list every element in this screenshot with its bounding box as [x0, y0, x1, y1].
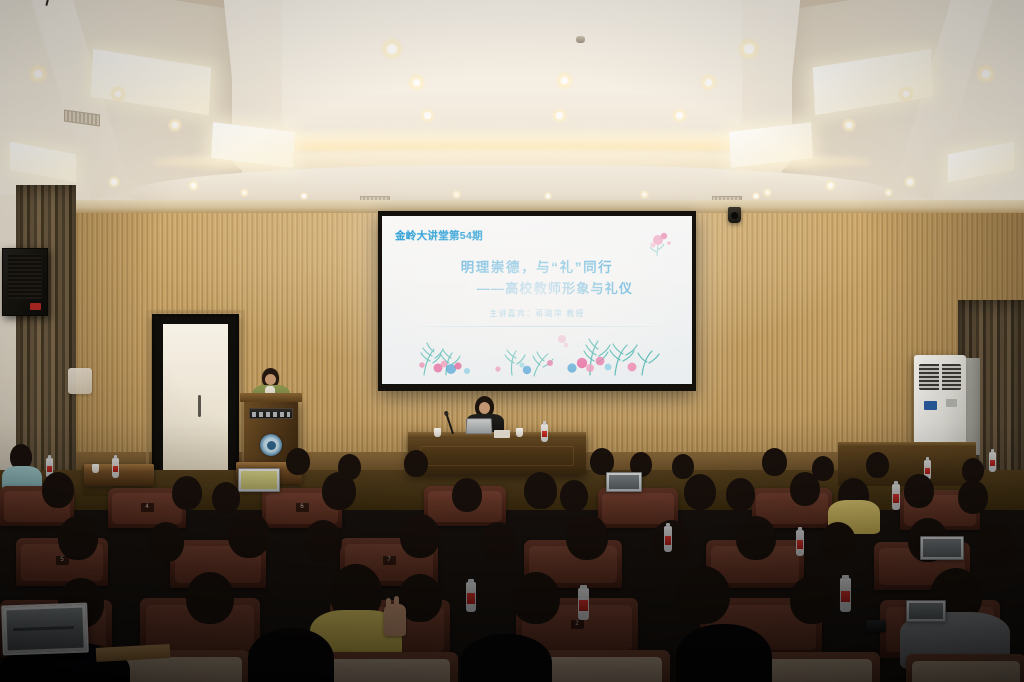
pa-speaker-left — [2, 248, 48, 316]
ceiling-downlight — [898, 86, 914, 102]
audience-head — [480, 522, 516, 562]
presenter-face — [265, 374, 276, 385]
projection-screen: 金岭大讲堂第54期 明理崇德，与“礼”同行 ——高校教师形象与礼仪 主讲嘉宾：蒋… — [378, 211, 696, 391]
ceiling-downlight — [420, 108, 435, 123]
audience-head — [148, 522, 184, 562]
seat-number: 6 — [296, 503, 309, 512]
name-card — [494, 430, 510, 438]
ceiling-downlight — [108, 176, 120, 188]
ceiling-downlight — [300, 192, 308, 200]
host-laptop[interactable] — [466, 418, 493, 434]
air-conditioner[interactable] — [914, 355, 966, 455]
laptop-screen — [923, 539, 961, 557]
slide-title-line2: ——高校教师形象与礼仪 — [382, 278, 692, 297]
ceiling-downlight — [556, 72, 573, 89]
ceiling — [0, 0, 1024, 215]
ceiling-downlight — [544, 192, 552, 200]
audience-head — [560, 480, 588, 512]
water-bottle — [892, 484, 900, 510]
audience-laptop[interactable] — [238, 468, 280, 492]
audience-head — [322, 472, 356, 510]
wall-notice-sign — [68, 368, 92, 394]
audience-head — [42, 472, 74, 508]
seat-pad — [912, 661, 1020, 682]
water-bottle — [466, 582, 476, 612]
seat-number: 5 — [56, 556, 69, 565]
audience-head — [676, 566, 730, 624]
ceiling-downlight — [825, 180, 836, 191]
seat[interactable] — [906, 654, 1024, 682]
entry-door[interactable] — [152, 314, 239, 484]
audience-head — [684, 474, 716, 510]
ceiling-downlight — [976, 64, 996, 84]
water-bottle — [112, 458, 119, 478]
ceiling-downlight — [672, 108, 687, 123]
ceiling-downlight — [28, 64, 48, 84]
audience-laptop[interactable] — [606, 472, 642, 492]
audience-head — [904, 474, 934, 508]
laptop-screen — [909, 603, 943, 619]
seat-number: 7 — [383, 556, 396, 565]
finger — [394, 596, 399, 614]
audience-head — [790, 576, 834, 624]
ceiling-downlight — [168, 118, 182, 132]
slide-kicker: 金岭大讲堂第54期 — [395, 228, 483, 243]
ceiling-downlight — [381, 38, 403, 60]
water-bottle — [578, 588, 589, 620]
audience-head — [866, 452, 889, 478]
lecture-hall-scene: 金岭大讲堂第54期 明理崇德，与“礼”同行 ——高校教师形象与礼仪 主讲嘉宾：蒋… — [0, 0, 1024, 682]
seat-number: 2 — [571, 620, 584, 629]
seat-number: 4 — [141, 503, 154, 512]
water-bottle — [796, 530, 804, 556]
audience-head — [212, 482, 240, 514]
foreground-silhouette — [676, 624, 772, 682]
audience-head — [958, 480, 988, 514]
audience-head — [524, 472, 557, 509]
ceiling-downlight — [884, 188, 893, 197]
audience-head — [976, 524, 1016, 568]
audience-head — [172, 476, 202, 510]
ceiling-downlight — [552, 108, 567, 123]
audience-head — [228, 512, 270, 558]
slide-speaker-line: 主讲嘉宾：蒋璐萍 教授 — [382, 308, 692, 319]
audience-head — [672, 454, 694, 479]
audience-head — [404, 450, 428, 477]
audience-head — [726, 478, 755, 511]
floral-border-icon — [394, 323, 684, 379]
water-bottle — [664, 526, 672, 552]
ceiling-downlight — [640, 190, 649, 199]
door-handle[interactable] — [198, 395, 201, 417]
ceiling-downlight — [752, 192, 760, 200]
audience-head — [304, 520, 342, 562]
audience-head — [286, 448, 310, 475]
head-table — [408, 432, 586, 474]
audience-head — [590, 448, 614, 475]
audience-head — [452, 478, 482, 512]
ceiling-downlight — [904, 176, 916, 188]
camera-lens-icon — [731, 212, 738, 219]
surveillance-camera — [728, 207, 741, 223]
ac-brand-badge — [924, 401, 937, 410]
laptop-screen — [241, 471, 277, 489]
laptop-screen — [609, 475, 639, 489]
paper-cup — [516, 428, 523, 437]
curtain-left — [16, 185, 76, 485]
ceiling-downlight — [842, 118, 856, 132]
water-bottle — [840, 578, 851, 612]
ceiling-downlight — [110, 86, 126, 102]
ceiling-downlight — [408, 74, 425, 91]
ac-unit-side — [964, 358, 980, 455]
foreground-silhouette — [248, 628, 334, 682]
door-leaf-left[interactable] — [163, 324, 196, 479]
finger — [386, 598, 391, 614]
audience-head — [820, 522, 856, 562]
audience-head — [512, 572, 560, 624]
ac-grille-icon — [919, 364, 961, 390]
university-emblem-icon — [260, 434, 282, 456]
speaker-brand-logo — [30, 303, 41, 310]
ceiling-downlight — [240, 188, 249, 197]
ceiling-downlight — [452, 190, 461, 199]
ceiling-downlight — [738, 38, 760, 60]
smartphone[interactable] — [866, 620, 886, 632]
seat-pad — [602, 493, 674, 524]
water-bottle — [541, 424, 548, 442]
audience-head — [186, 572, 234, 624]
audience-head — [566, 514, 608, 560]
laptop-screen — [6, 608, 83, 651]
slide-title-line1: 明理崇德，与“礼”同行 — [382, 256, 692, 276]
paper-cup — [92, 464, 99, 473]
paper-cup — [434, 428, 441, 437]
audience-laptop[interactable] — [906, 600, 946, 622]
host-face — [479, 402, 490, 414]
podium-name-plate — [249, 408, 293, 419]
audience-laptop[interactable] — [920, 536, 964, 560]
audience-head — [736, 516, 776, 560]
head-table-panel — [420, 446, 574, 466]
audience-head — [58, 516, 98, 560]
audience-head — [762, 448, 787, 476]
podium-top — [240, 393, 302, 402]
floral-corner-icon — [638, 226, 678, 258]
ceiling-downlight — [700, 74, 717, 91]
ceiling-downlight — [188, 180, 199, 191]
foreground-laptop[interactable] — [1, 603, 89, 656]
projection-screen-surface: 金岭大讲堂第54期 明理崇德，与“礼”同行 ——高校教师形象与礼仪 主讲嘉宾：蒋… — [382, 216, 692, 384]
ac-control-panel[interactable] — [946, 399, 957, 407]
water-bottle — [989, 452, 996, 472]
foreground-silhouette — [460, 634, 552, 682]
sprinkler-head — [576, 36, 585, 43]
audience-head — [790, 472, 820, 506]
audience-head — [400, 514, 440, 558]
ceiling-downlight — [763, 188, 772, 197]
